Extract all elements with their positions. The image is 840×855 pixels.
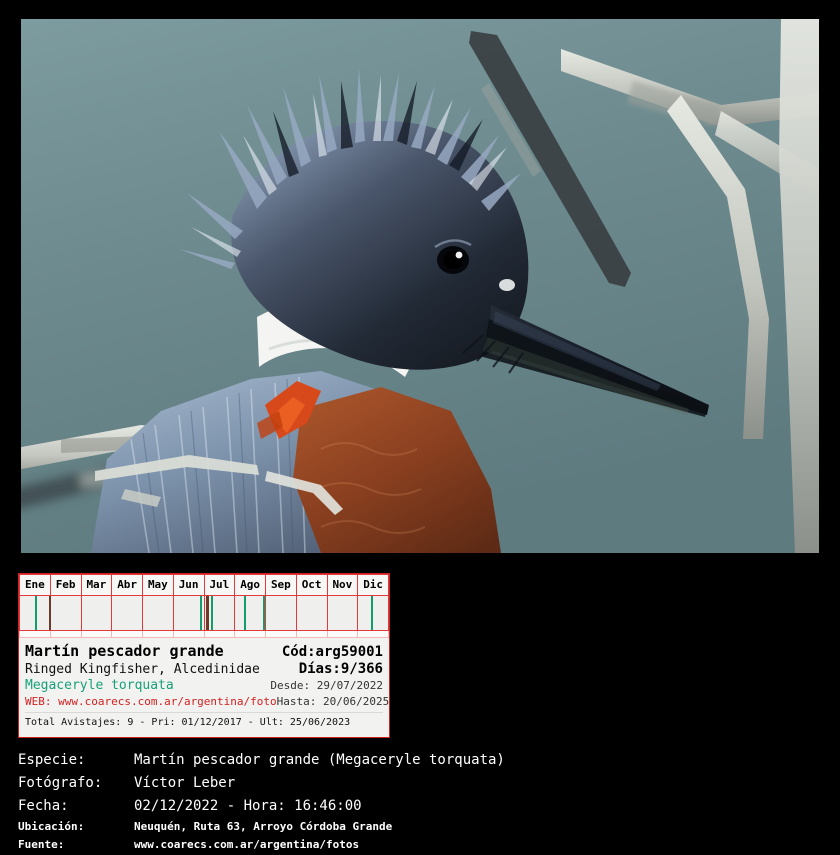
month-header-sep: Sep <box>266 575 297 596</box>
species-english-family: Ringed Kingfisher, Alcedinidae <box>25 662 260 678</box>
month-cell-ago[interactable] <box>235 596 266 631</box>
month-header-jul: Jul <box>204 575 235 596</box>
meta-value-fuente[interactable]: www.coarecs.com.ar/argentina/fotos <box>134 837 359 853</box>
meta-row-fuente: Fuente: www.coarecs.com.ar/argentina/fot… <box>18 837 828 853</box>
month-cell-feb[interactable] <box>50 596 81 631</box>
photo-metadata-block: Especie: Martín pescador grande (Megacer… <box>18 750 828 855</box>
meta-key-ubicacion: Ubicación: <box>18 819 134 835</box>
meta-value-fotografo: Víctor Leber <box>134 773 235 794</box>
calendar-tick-row <box>20 596 389 631</box>
days-counter: Días:9/366 <box>299 661 383 679</box>
month-header-nov: Nov <box>327 575 358 596</box>
meta-key-fuente: Fuente: <box>18 837 134 853</box>
web-link[interactable]: WEB: www.coarecs.com.ar/argentina/foto <box>25 695 277 709</box>
species-common-name: Martín pescador grande <box>25 642 224 660</box>
month-cell-sep[interactable] <box>266 596 297 631</box>
spacer-cell <box>173 631 204 638</box>
loral-spot <box>499 279 515 291</box>
card-line-web: WEB: www.coarecs.com.ar/argentina/foto H… <box>25 695 383 709</box>
spacer-cell <box>50 631 81 638</box>
spacer-cell <box>81 631 112 638</box>
card-line-name: Martín pescador grande Cód:arg59001 <box>25 642 383 661</box>
month-header-mar: Mar <box>81 575 112 596</box>
spacer-cell <box>143 631 174 638</box>
sighting-tick <box>211 596 213 630</box>
spacer-cell <box>204 631 235 638</box>
spacer-cell <box>327 631 358 638</box>
spacer-cell <box>112 631 143 638</box>
sighting-tick <box>263 596 265 630</box>
species-scientific-name: Megaceryle torquata <box>25 678 174 694</box>
month-header-dic: Dic <box>358 575 389 596</box>
month-header-may: May <box>143 575 174 596</box>
range-end-date: Hasta: 20/06/2025 <box>277 695 390 709</box>
sighting-tick <box>371 596 373 630</box>
meta-row-especie: Especie: Martín pescador grande (Megacer… <box>18 750 828 771</box>
sighting-summary-card: Ene Feb Mar Abr May Jun Jul Ago Sep Oct … <box>18 573 390 738</box>
meta-row-ubicacion: Ubicación: Neuquén, Ruta 63, Arroyo Córd… <box>18 819 828 835</box>
spacer-cell <box>20 631 51 638</box>
meta-row-fecha: Fecha: 02/12/2022 - Hora: 16:46:00 <box>18 796 828 817</box>
meta-row-fotografo: Fotógrafo: Víctor Leber <box>18 773 828 794</box>
spacer-cell <box>358 631 389 638</box>
monthly-sightings-calendar: Ene Feb Mar Abr May Jun Jul Ago Sep Oct … <box>19 574 389 638</box>
meta-key-especie: Especie: <box>18 750 134 771</box>
sighting-tick <box>244 596 246 630</box>
bird-photo-illustration <box>21 19 819 553</box>
card-line-english: Ringed Kingfisher, Alcedinidae Días:9/36… <box>25 661 383 679</box>
month-header-feb: Feb <box>50 575 81 596</box>
calendar-header-row: Ene Feb Mar Abr May Jun Jul Ago Sep Oct … <box>20 575 389 596</box>
calendar-spacer-row <box>20 631 389 638</box>
month-header-jun: Jun <box>173 575 204 596</box>
species-code: Cód:arg59001 <box>282 644 383 661</box>
month-cell-jul[interactable] <box>204 596 235 631</box>
month-cell-may[interactable] <box>143 596 174 631</box>
month-cell-ene[interactable] <box>20 596 51 631</box>
card-line-scientific: Megaceryle torquata Desde: 29/07/2022 <box>25 678 383 694</box>
sighting-tick <box>200 596 202 630</box>
month-cell-dic[interactable] <box>358 596 389 631</box>
month-cell-oct[interactable] <box>296 596 327 631</box>
spacer-cell <box>235 631 266 638</box>
sighting-tick <box>35 596 37 630</box>
meta-key-fotografo: Fotógrafo: <box>18 773 134 794</box>
month-cell-abr[interactable] <box>112 596 143 631</box>
total-sightings-line: Total Avistajes: 9 - Pri: 01/12/2017 - U… <box>25 712 383 729</box>
meta-value-ubicacion: Neuquén, Ruta 63, Arroyo Córdoba Grande <box>134 819 392 835</box>
meta-key-fecha: Fecha: <box>18 796 134 817</box>
sighting-tick <box>206 596 209 630</box>
spacer-cell <box>296 631 327 638</box>
month-cell-jun[interactable] <box>173 596 204 631</box>
month-cell-nov[interactable] <box>327 596 358 631</box>
month-header-abr: Abr <box>112 575 143 596</box>
spacer-cell <box>266 631 297 638</box>
range-start-date: Desde: 29/07/2022 <box>270 679 383 693</box>
meta-value-especie: Martín pescador grande (Megaceryle torqu… <box>134 750 505 771</box>
meta-value-fecha: 02/12/2022 - Hora: 16:46:00 <box>134 796 362 817</box>
bird-photo <box>21 19 819 553</box>
month-cell-mar[interactable] <box>81 596 112 631</box>
month-header-ene: Ene <box>20 575 51 596</box>
card-text-block: Martín pescador grande Cód:arg59001 Ring… <box>19 638 389 729</box>
month-header-ago: Ago <box>235 575 266 596</box>
month-header-oct: Oct <box>296 575 327 596</box>
